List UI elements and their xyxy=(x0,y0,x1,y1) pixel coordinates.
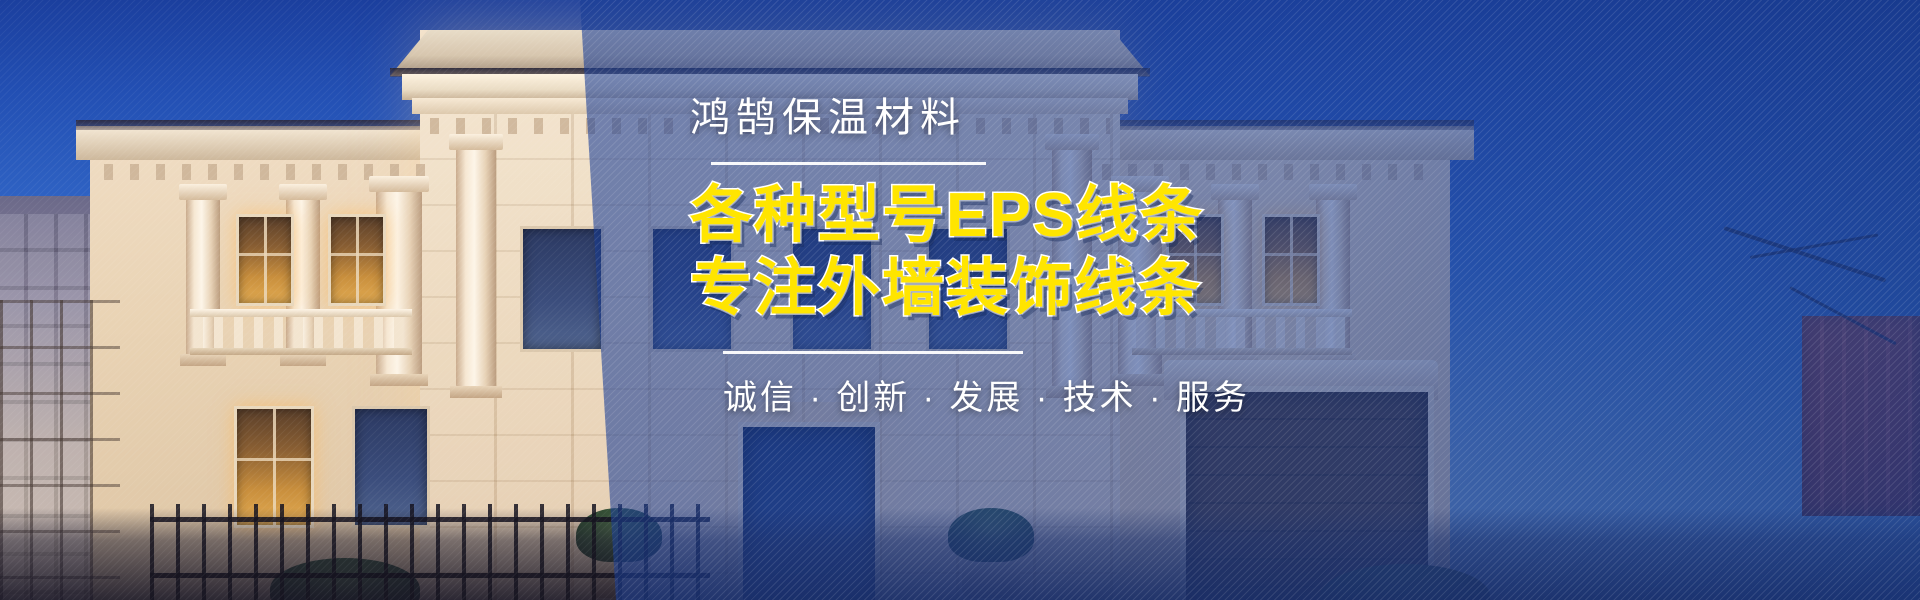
balustrade-left xyxy=(194,316,408,350)
window-left-upper-2 xyxy=(328,214,386,306)
headline-line-2: 专注外墙装饰线条 xyxy=(690,252,1410,325)
tagline: 诚信 · 创新 · 发展 · 技术 · 服务 xyxy=(723,370,1410,419)
headline-line-1: 各种型号EPS线条 xyxy=(690,179,1410,252)
brand-name: 鸿鹄保温材料 xyxy=(690,96,1410,140)
divider-above-tagline xyxy=(723,351,1023,354)
left-wing-eave xyxy=(76,120,468,130)
window-center-1 xyxy=(520,226,604,352)
window-left-upper-1 xyxy=(236,214,294,306)
column-center-1 xyxy=(456,148,496,388)
divider-above-headline xyxy=(711,162,986,165)
hero-banner: 鸿鹄保温材料 各种型号EPS线条 专注外墙装饰线条 诚信 · 创新 · 发展 ·… xyxy=(0,0,1920,600)
banner-text-block: 鸿鹄保温材料 各种型号EPS线条 专注外墙装饰线条 诚信 · 创新 · 发展 ·… xyxy=(690,96,1410,419)
left-wing-roof xyxy=(76,126,468,160)
